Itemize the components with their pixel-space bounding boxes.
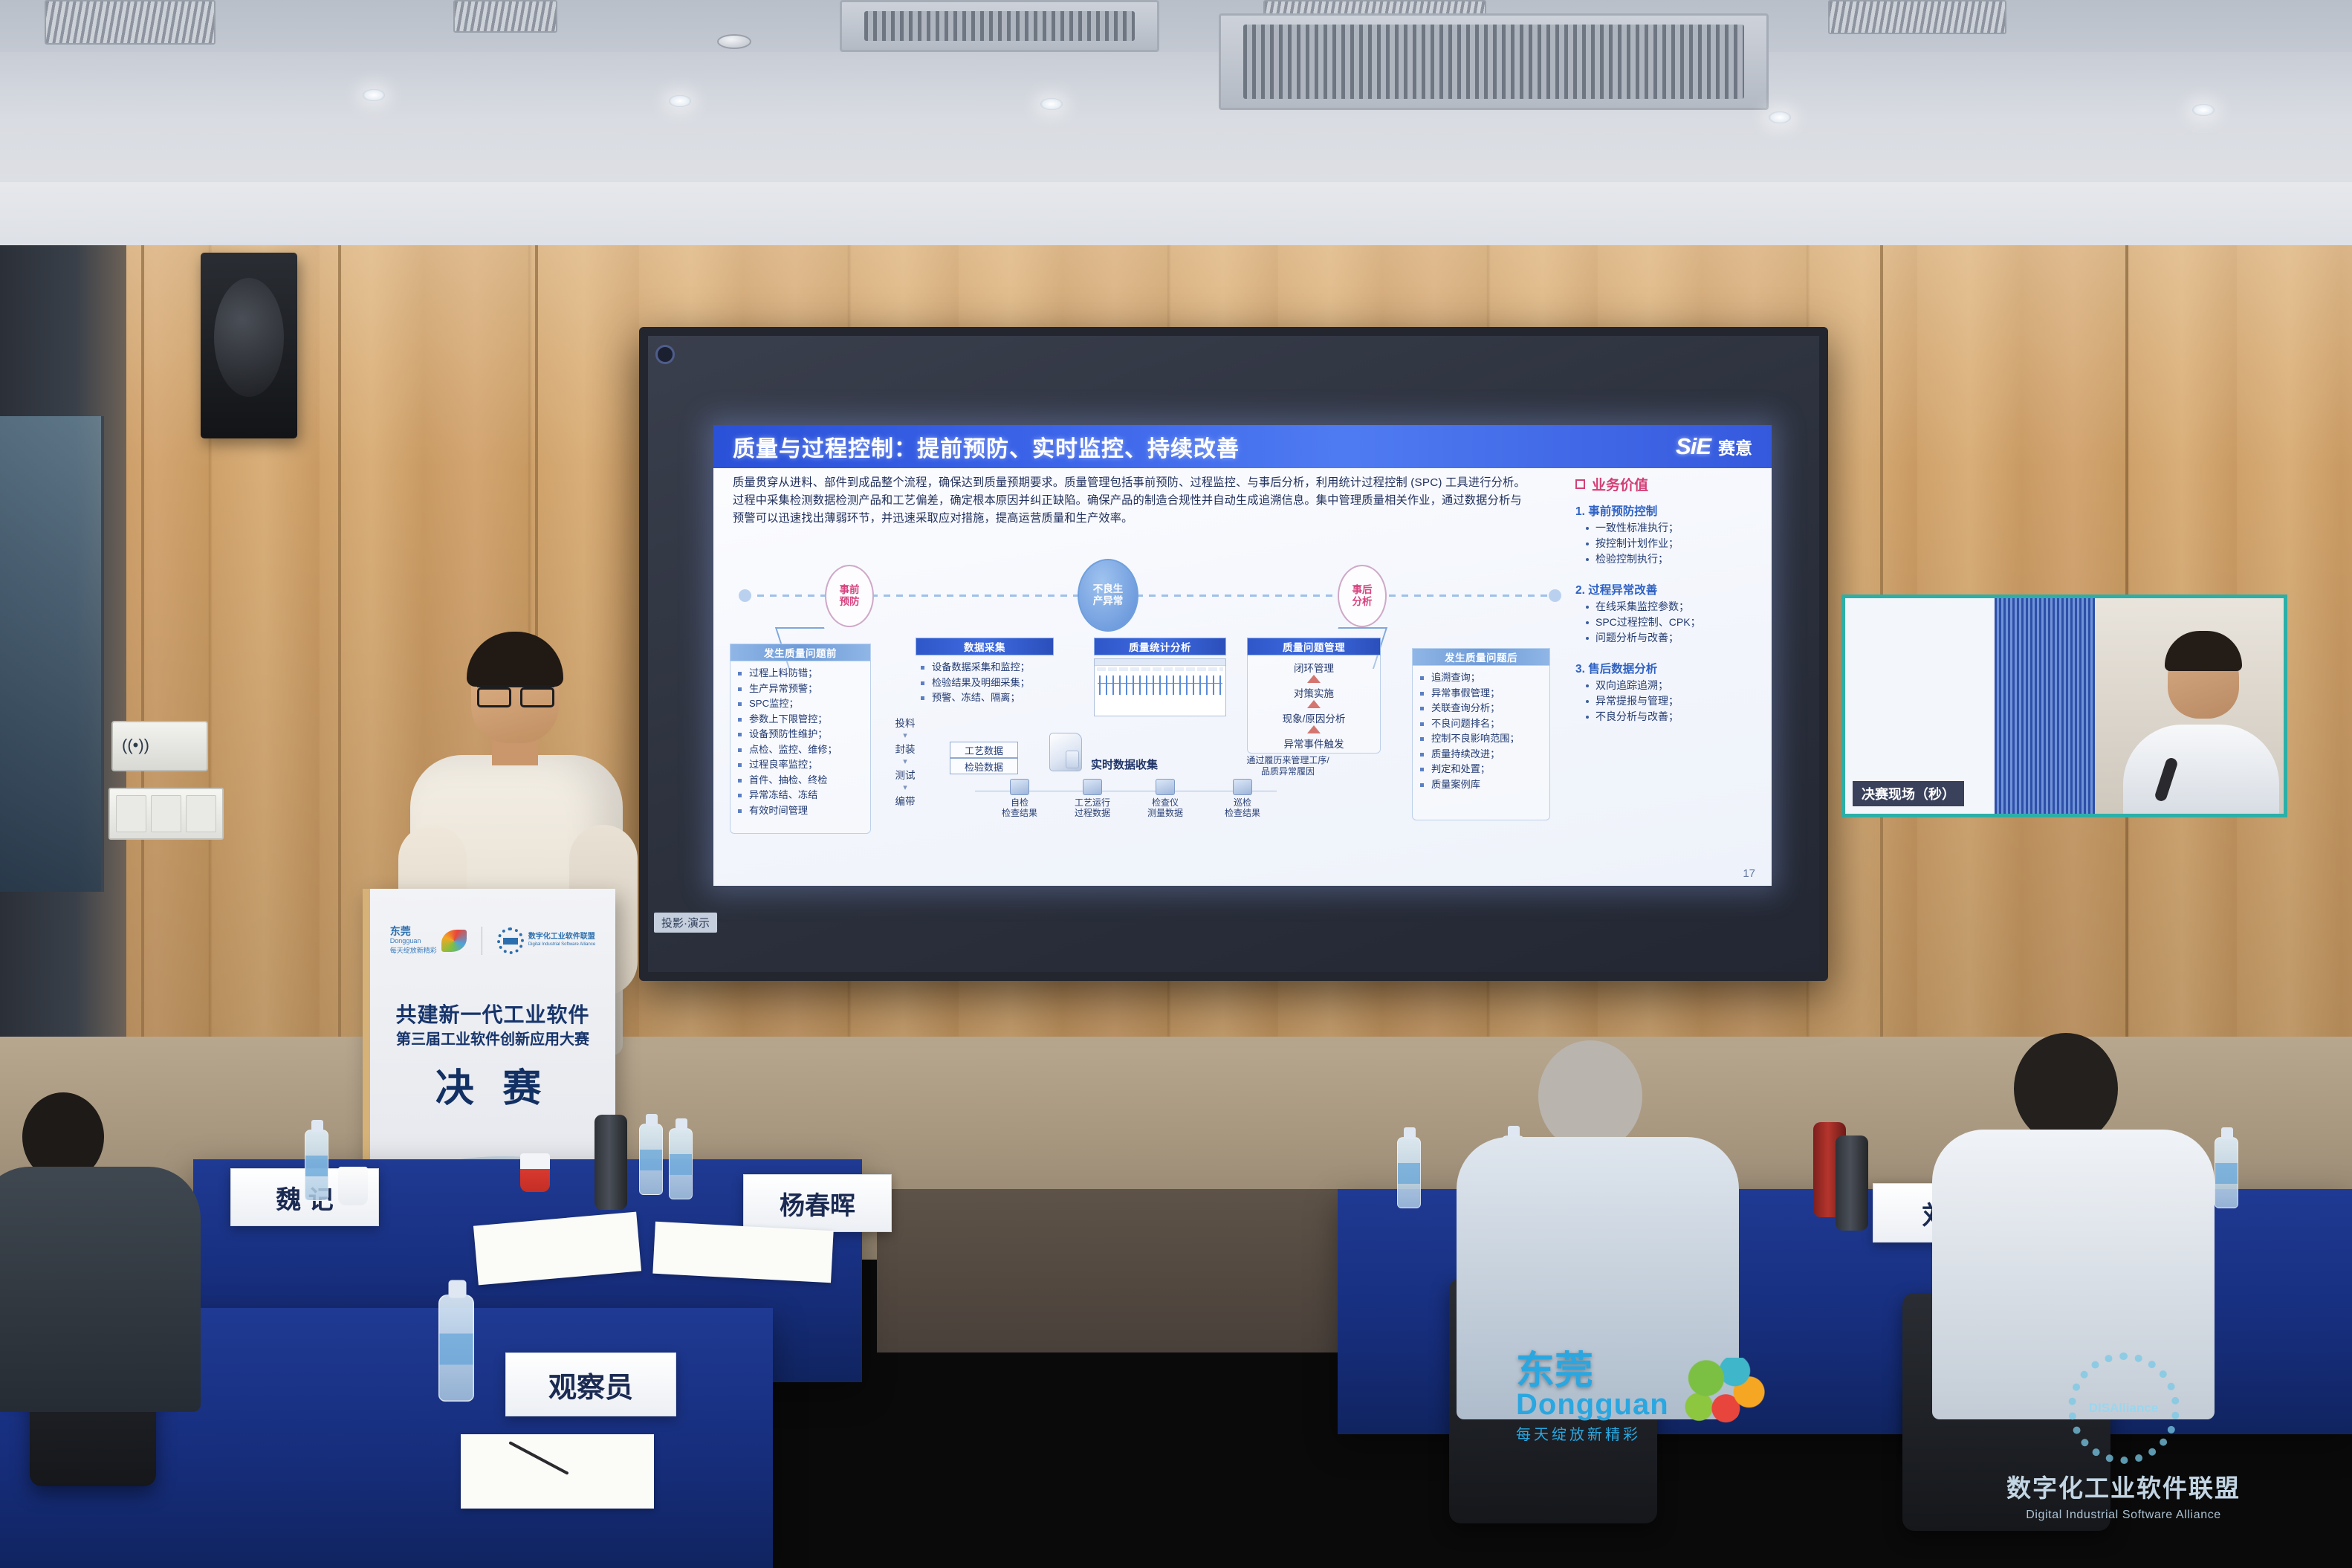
gear-inner-bar [503,938,518,945]
glasses-icon [477,685,554,702]
live-video-tile[interactable]: 决赛现场（秒） [1841,595,2287,817]
value-group-2-number: 2. [1575,584,1585,597]
value-group-3-title: 售后数据分析 [1588,663,1657,676]
flow-node-post-analysis: 事后 分析 [1338,565,1387,627]
quality-stack-item-4: 异常事件触发 [1251,736,1377,751]
list-item: 追溯查询； [1416,670,1520,686]
wall-control-panel[interactable]: ((•)) [111,721,208,771]
value-group-2-title: 过程异常改善 [1588,584,1657,597]
thermos-flask-2 [1836,1135,1868,1231]
collector-node-label-4: 巡检 检查结果 [1225,797,1260,818]
collector-node-label-3: 检查仪 测量数据 [1147,797,1183,818]
stack-arrow-icon-1 [1307,675,1321,683]
downlight-5 [2192,104,2215,116]
realtime-collection-label: 实时数据收集 [1091,757,1158,772]
list-item: 质量案例库 [1416,777,1520,793]
column-1-header-label: 发生质量问题前 [764,645,837,660]
list-item: 不良问题排名； [1416,716,1520,732]
screen-power-indicator-icon [655,345,675,364]
glass-door[interactable] [0,416,104,892]
patrol-inspection-icon [1233,779,1252,795]
value-group-1-title: 事前预防控制 [1588,505,1657,518]
value-group-1-items: 一致性标准执行； 按控制计划作业； 检验控制执行； [1581,520,1679,567]
quality-stack-item-1: 闭环管理 [1251,660,1377,675]
water-bottle-1 [305,1130,328,1201]
process-stage-1: 投料 [883,718,927,729]
nameplate-yang-label: 杨春晖 [780,1185,855,1222]
collector-node-self-check: 自检 检查结果 [990,779,1049,818]
list-item: 关联查询分析； [1416,701,1520,716]
column-4-header-label: 质量问题管理 [1283,639,1345,654]
stage-platform [877,1189,1382,1352]
quality-stack-item-3: 现象/原因分析 [1251,710,1377,725]
list-item: 双向追踪追溯； [1581,678,1679,693]
bottle-label [440,1334,473,1365]
list-item: 预警、冻结、隔离； [917,690,1030,706]
list-item: 设备数据采集和监控； [917,660,1030,676]
watermark-alliance-cn: 数字化工业软件联盟 [2006,1468,2241,1504]
list-item: 不良分析与改善； [1581,709,1679,725]
chart-thumb-control-limit [1098,683,1222,684]
value-panel-title: 业务价值 [1575,474,1648,494]
podium-logo-row: 东莞 Dongguan 每天绽放新精彩 数字化工业软件联盟 Digital In… [370,920,615,962]
thermos-flask-1 [595,1115,627,1210]
column-4-header: 质量问题管理 [1247,638,1381,655]
flow-node-pre-prevention: 事前 预防 [825,565,874,627]
attendee-far-right-head [2014,1033,2118,1144]
downlight-1 [363,89,385,101]
slide-title-bar: 质量与过程控制：提前预防、实时监控、持续改善 SiE 赛意 [713,425,1772,468]
watermark-leaf-icon [1679,1358,1769,1439]
presenter-hair [467,632,563,687]
chart-thumb-sparkline [1099,676,1221,695]
column-5-header: 发生质量问题后 [1412,648,1550,666]
slide-title: 质量与过程控制：提前预防、实时监控、持续改善 [733,430,1240,463]
value-group-1-heading: 1. 事前预防控制 [1575,502,1657,519]
socket-2[interactable] [151,795,181,832]
value-group-3-heading: 3. 售后数据分析 [1575,660,1657,676]
slide-page-number: 17 [1743,867,1755,880]
downlight-3 [1040,98,1063,110]
list-item: 异常事假管理； [1416,686,1520,702]
wall-speaker-icon [201,253,297,438]
list-item: 过程良率监控； [734,757,838,773]
spc-chart-thumbnail [1094,658,1226,716]
watermark-gear-icon: DISAlliance [2068,1352,2180,1464]
value-group-2-heading: 2. 过程异常改善 [1575,581,1657,597]
ceiling-ac-unit [1219,13,1769,110]
watermark-dongguan-en: Dongguan [1516,1390,1669,1419]
smoke-detector-icon [717,34,751,49]
paper-cup-red [520,1153,550,1192]
column-1-bullets: 过程上料防错； 生产异常预警； SPC监控； 参数上下限管控； 设备预防性维护；… [734,666,838,818]
ceiling-vent-5 [1828,0,2006,34]
column-5-header-label: 发生质量问题后 [1445,649,1517,664]
wall-seam-1 [141,245,144,1040]
collector-node-label-2: 工艺运行 过程数据 [1075,797,1110,818]
list-item: 异常冻结、冻结 [734,788,838,803]
socket-1[interactable] [116,795,146,832]
downlight-2 [669,95,691,107]
list-item: 参数上下限管控； [734,712,838,728]
data-chip-inspection: 检验数据 [950,758,1018,774]
stage-arrow-icon-1: ▾ [883,730,927,742]
self-check-icon [1010,779,1029,795]
column-2-bullets: 设备数据采集和监控； 检验结果及明细采集； 预警、冻结、隔离； [917,660,1030,706]
socket-3[interactable] [186,795,216,832]
alliance-logo: 数字化工业软件联盟 Digital Industrial Software Al… [497,927,595,954]
video-bg-middle [1995,598,2096,814]
paper-cup-1 [338,1167,368,1205]
paragraph-line-1: 质量贯穿从进料、部件到成品整个流程，确保达到质量预期要求。质量管理包括事前预防、… [733,474,1565,492]
value-panel-title-label: 业务价值 [1592,474,1648,494]
value-group-3-items: 双向追踪追溯； 异常提报与管理； 不良分析与改善； [1581,678,1679,725]
presentation-screen[interactable]: 质量与过程控制：提前预防、实时监控、持续改善 SiE 赛意 质量贯穿从进料、部件… [639,327,1828,981]
column-2-header: 数据采集 [916,638,1054,655]
list-item: 检验结果及明细采集； [917,676,1030,691]
list-item: 过程上料防错； [734,666,838,681]
gear-icon [497,927,524,954]
attendee-center-right-head [1538,1040,1642,1152]
watermark-dongguan-cn: 东莞 [1516,1352,1669,1390]
value-group-2-items: 在线采集监控参数； SPC过程控制、CPK； 问题分析与改善； [1581,599,1701,646]
list-item: SPC监控； [734,696,838,712]
conference-room-scene: ((•)) 质量与过程控制：提前预防、实时监控、持续改善 SiE 赛意 质量贯穿… [0,0,2352,1568]
process-monitor-icon [1083,779,1102,795]
stage-arrow-icon-3: ▾ [883,783,927,794]
ceiling-vent-1 [45,0,216,45]
collector-node-patrol-check: 巡检 检查结果 [1213,779,1272,818]
bullet-square-icon [1575,479,1585,489]
list-item: 问题分析与改善； [1581,630,1701,646]
flow-node-defect-event: 不良生 产异常 [1078,559,1138,632]
process-stage-2: 封装 [883,744,927,755]
video-presenter-body [2123,725,2279,814]
measuring-instrument-icon [1156,779,1175,795]
dongguan-logo-en: Dongguan [390,936,437,946]
nameplate-observer-2: 观察员 [505,1352,676,1416]
paragraph-line-3: 预警可以迅速找出薄弱环节，并迅速采取应对措施，提高运营质量和生产效率。 [733,510,1565,528]
screen-source-tag: 投影·演示 [654,913,717,933]
podium-stage-label: 决 赛 [370,1057,615,1112]
sie-brand-cn: 赛意 [1718,434,1752,459]
sie-brand-logo: SiE 赛意 [1676,433,1752,460]
watermark-dongguan-text: 东莞 Dongguan 每天绽放新精彩 [1516,1352,1669,1444]
bottle-label [640,1150,662,1170]
list-item: 判定和处置； [1416,762,1520,777]
list-item: 设备预防性维护； [734,727,838,742]
watermark-alliance-en: Digital Industrial Software Alliance [2026,1509,2221,1522]
dongguan-logo-text: 东莞 Dongguan 每天绽放新精彩 [390,927,437,956]
water-bottle-4 [438,1295,474,1402]
water-bottle-5 [1397,1137,1421,1208]
value-group-3-number: 3. [1575,663,1585,676]
watermark-dongguan: 东莞 Dongguan 每天绽放新精彩 [1516,1352,1769,1444]
attendee-left [0,1092,223,1405]
nameplate-observer-2-label: 观察员 [548,1364,633,1405]
wifi-icon: ((•)) [122,736,149,755]
column-3-header-label: 质量统计分析 [1129,639,1191,654]
podium-headline: 共建新一代工业软件 [370,999,615,1028]
water-bottle-3 [669,1128,693,1199]
list-item: SPC过程控制、CPK； [1581,615,1701,630]
flow-start-cap-icon [739,589,751,602]
alliance-logo-text: 数字化工业软件联盟 Digital Industrial Software Al… [528,933,595,949]
list-item: 首件、抽检、终检 [734,773,838,788]
dongguan-leaf-icon [441,930,467,952]
water-bottle-7 [2215,1137,2238,1208]
podium-subline: 第三届工业软件创新应用大赛 [370,1027,615,1049]
list-item: 按控制计划作业； [1581,536,1679,551]
nameplate-yang: 杨春晖 [743,1174,892,1232]
ceiling-vent-2 [453,0,557,33]
dongguan-logo-sub: 每天绽放新精彩 [390,946,437,956]
attendee-left-body [0,1167,201,1412]
quality-stack-item-2: 对策实施 [1251,685,1377,700]
column-1-header: 发生质量问题前 [730,644,871,661]
document-sheet-2 [652,1222,833,1283]
dongguan-logo-cn: 东莞 [390,925,411,937]
stage-arrow-icon-2: ▾ [883,757,927,768]
watermark-alliance: DISAlliance 数字化工业软件联盟 Digital Industrial… [2006,1352,2241,1522]
bottle-label [1398,1163,1420,1184]
wall-socket-panel[interactable] [108,788,224,840]
process-stage-chain: 投料 ▾ 封装 ▾ 测试 ▾ 编带 [883,718,927,809]
watermark-dongguan-sub: 每天绽放新精彩 [1516,1422,1669,1444]
list-item: 在线采集监控参数； [1581,599,1701,615]
process-stage-3: 测试 [883,770,927,781]
slide-surface: 质量与过程控制：提前预防、实时监控、持续改善 SiE 赛意 质量贯穿从进料、部件… [713,425,1772,886]
list-item: 一致性标准执行； [1581,520,1679,536]
collector-node-gauge-data: 检查仪 测量数据 [1135,779,1195,818]
collector-node-process-data: 工艺运行 过程数据 [1063,779,1122,818]
list-item: 异常提报与管理； [1581,693,1679,709]
bottle-label [2215,1163,2238,1184]
chart-thumb-row [1097,667,1223,671]
bottle-label [305,1156,328,1176]
dongguan-logo: 东莞 Dongguan 每天绽放新精彩 [390,927,467,956]
flow-node-label-3: 事后 分析 [1352,584,1373,608]
data-chip-process: 工艺数据 [950,742,1018,758]
document-sheet-3 [461,1434,654,1509]
wall-seam-2 [338,245,341,1040]
slide-body: 质量贯穿从进料、部件到成品整个流程，确保达到质量预期要求。质量管理包括事前预防、… [713,468,1772,886]
watermark-gear-text: DISAlliance [2089,1401,2159,1416]
list-item: 检验控制执行； [1581,551,1679,567]
downlight-4 [1769,111,1791,123]
list-item: 有效时间管理 [734,803,838,819]
value-group-1-number: 1. [1575,505,1585,518]
sie-wordmark: SiE [1676,433,1711,460]
column-3-header: 质量统计分析 [1094,638,1226,655]
flow-node-label-2: 不良生 产异常 [1093,583,1124,607]
water-bottle-2 [639,1124,663,1195]
list-item: 生产异常预警； [734,681,838,697]
video-caption: 决赛现场（秒） [1853,781,1964,806]
chart-thumb-header [1095,659,1225,666]
history-management-note: 通过履历来管理工序/ 品质异常履因 [1225,755,1351,777]
list-item: 质量持续改进； [1416,747,1520,762]
ac-grill [1243,25,1744,99]
slide-paragraph: 质量贯穿从进料、部件到成品整个流程，确保达到质量预期要求。质量管理包括事前预防、… [733,474,1565,528]
logo-divider [482,927,482,955]
alliance-logo-cn: 数字化工业软件联盟 [528,933,595,941]
flow-end-cap-icon [1549,589,1561,602]
flow-node-label-1: 事前 预防 [840,584,860,608]
column-2-header-label: 数据采集 [964,639,1005,654]
stack-arrow-icon-2 [1307,700,1321,708]
paragraph-line-2: 过程中采集检测数据检测产品和工艺偏差，确定根本原因并纠正缺陷。确保产品的制造合规… [733,492,1565,510]
collector-node-label-1: 自检 检查结果 [1002,797,1037,818]
column-5-bullets: 追溯查询； 异常事假管理； 关联查询分析； 不良问题排名； 控制不良影响范围； … [1416,670,1520,792]
process-stage-4: 编带 [883,796,927,807]
ceiling-ac-unit-2 [840,0,1159,52]
list-item: 控制不良影响范围； [1416,731,1520,747]
list-item: 点检、监控、维修； [734,742,838,758]
alliance-logo-en: Digital Industrial Software Alliance [528,941,595,949]
ac-grill-2 [864,11,1135,41]
bottle-label [670,1154,692,1175]
stack-arrow-icon-3 [1307,725,1321,733]
server-icon [1049,733,1082,771]
